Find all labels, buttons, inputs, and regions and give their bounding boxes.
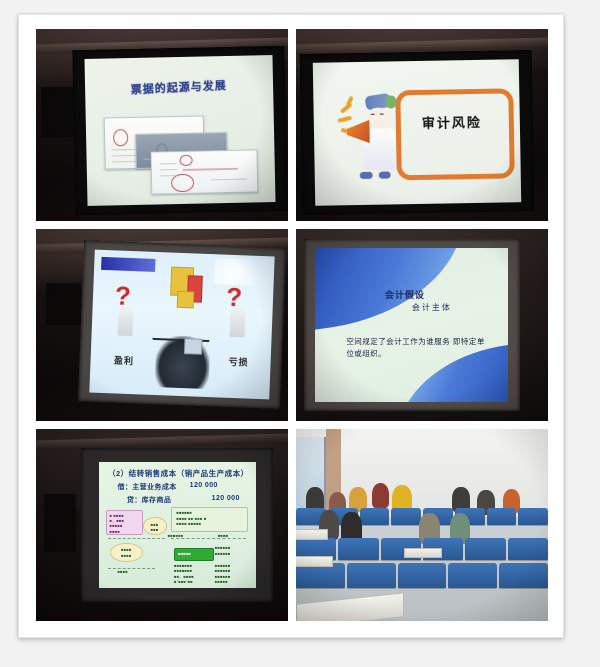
- projected-slide: （2）结转销售成本（销产品生产成本） 借：主营业务成本 120 000 贷：库存…: [99, 462, 256, 588]
- attendee: [372, 483, 390, 508]
- projector-frame: 会计假设 会计主体 空间规定了会计工作为谁服务 即特定单位或组织。: [304, 239, 521, 412]
- diagram-box-main-production: ■■■■■■■■■■ ■■ ■■■ ■■■■■ ■■■■■: [171, 507, 248, 532]
- dark-wall-patch: [44, 494, 77, 552]
- label-profit: 盈利: [114, 354, 134, 368]
- seal-icon: [179, 155, 192, 166]
- projected-slide: ? ? 盈利 亏损: [90, 250, 275, 400]
- projected-slide: 会计假设 会计主体 空间规定了会计工作为谁服务 即特定单位或组织。: [315, 248, 508, 402]
- entry-credit-amount: 120 000: [212, 495, 240, 502]
- question-mark-right-icon: ?: [221, 286, 255, 339]
- collage-card: 票据的起源与发展: [18, 14, 564, 638]
- slide-title: （2）结转销售成本（销产品生产成本）: [108, 468, 246, 479]
- photo-grid: 票据的起源与发展: [36, 29, 548, 621]
- projected-slide: 审计风险: [313, 59, 522, 206]
- desk: [296, 556, 333, 568]
- entry-debit-amount: 120 000: [190, 482, 218, 489]
- slide-title: 会计假设: [385, 288, 425, 301]
- panel-slide-audit-risk[interactable]: 审计风险: [296, 29, 548, 221]
- slide-subtitle: 会计主体: [412, 302, 452, 313]
- seal-icon: [113, 129, 128, 146]
- shoe-icon: [378, 171, 391, 178]
- diagram-highlight-box: ■■■■■: [174, 548, 214, 561]
- desk: [404, 548, 441, 558]
- diagram-oval-aux: ■■■■■■: [143, 517, 167, 534]
- meeting-table-icon: [155, 335, 211, 389]
- diagram-box-expense: ■ ■■■■■、■■■■■■■■■■■■: [106, 510, 143, 535]
- orange-rounded-frame: [396, 88, 515, 180]
- desk: [296, 529, 328, 541]
- panel-classroom-photo[interactable]: [296, 429, 548, 621]
- panel-slide-profit-loss[interactable]: ? ? 盈利 亏损: [36, 229, 288, 421]
- presentation-board-icon: [184, 339, 203, 355]
- label-loss: 亏损: [229, 356, 249, 370]
- projector-frame: ? ? 盈利 亏损: [78, 241, 286, 410]
- panel-slide-bill-origin[interactable]: 票据的起源与发展: [36, 29, 288, 221]
- slide-body-text: 空间规定了会计工作为谁服务 即特定单位或组织。: [346, 336, 485, 360]
- title-bar: [102, 257, 156, 272]
- mascot-character: [348, 93, 407, 183]
- shoe-icon: [360, 172, 373, 179]
- entry-credit-label: 贷：库存商品: [127, 495, 171, 505]
- dark-wall-patch: [46, 283, 81, 325]
- bill-cheque: [150, 150, 258, 195]
- diagram-oval-finished-goods: ■■■■■■■■: [110, 543, 143, 563]
- hat-green-ball-icon: [385, 95, 397, 108]
- projector-frame: （2）结转销售成本（销产品生产成本） 借：主营业务成本 120 000 贷：库存…: [81, 448, 273, 602]
- building-icon: [165, 267, 206, 312]
- slide-title: 审计风险: [404, 111, 499, 132]
- projector-frame: 票据的起源与发展: [72, 46, 287, 216]
- seat-row-front: [296, 563, 548, 588]
- entry-debit-label: 借：主营业务成本: [117, 482, 176, 492]
- panel-slide-accounting-assumption[interactable]: 会计假设 会计主体 空间规定了会计工作为谁服务 即特定单位或组织。: [296, 229, 548, 421]
- megaphone-icon: [346, 120, 369, 144]
- slide-title: 票据的起源与发展: [107, 76, 251, 99]
- panel-slide-cost-transfer[interactable]: （2）结转销售成本（销产品生产成本） 借：主营业务成本 120 000 贷：库存…: [36, 429, 288, 621]
- question-mark-left-icon: ?: [110, 285, 144, 338]
- classroom-scene: [296, 429, 548, 621]
- head: [367, 107, 390, 131]
- projector-frame: 审计风险: [300, 50, 535, 215]
- projected-slide: 票据的起源与发展: [84, 55, 275, 206]
